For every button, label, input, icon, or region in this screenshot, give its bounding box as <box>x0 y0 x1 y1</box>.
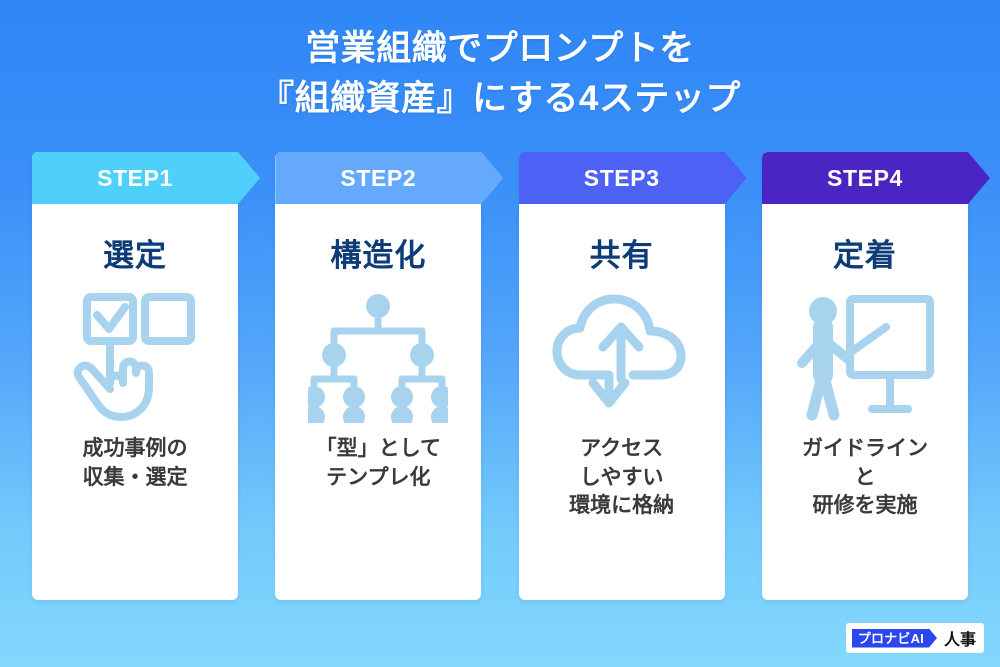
step-title-2: 構造化 <box>330 240 426 271</box>
step-card-1: STEP1 選定 成功事例の 収集・選定 <box>32 152 238 600</box>
step-body-2-line-2: テンプレ化 <box>280 464 476 493</box>
step-card-3: STEP3 共有 アクセス しやすい 環境に格納 <box>519 152 725 600</box>
logo-suffix-text: 人事 <box>944 626 976 650</box>
step-body-1-line-1: 成功事例の <box>37 435 233 464</box>
infographic-canvas: 営業組織でプロンプトを 『組織資産』にする4ステップ STEP1 選定 成功事例… <box>0 0 1000 667</box>
step-body-3-line-3: 環境に格納 <box>524 492 720 521</box>
step-title-4: 定着 <box>833 240 897 271</box>
step-body-2: 「型」として テンプレ化 <box>280 435 476 492</box>
cloud-sync-icon <box>547 289 697 425</box>
checkbox-hand-icon <box>60 289 210 425</box>
step-label-3: STEP3 <box>584 165 660 192</box>
step-body-1: 成功事例の 収集・選定 <box>37 435 233 492</box>
step-body-3-line-1: アクセス <box>524 435 720 464</box>
step-body-3-line-2: しやすい <box>524 464 720 493</box>
step-band-3: STEP3 <box>519 152 747 204</box>
org-chart-icon <box>303 289 453 425</box>
step-body-4-line-1: ガイドライン <box>767 435 963 464</box>
page-title: 営業組織でプロンプトを 『組織資産』にする4ステップ <box>0 24 1000 123</box>
step-body-3: アクセス しやすい 環境に格納 <box>524 435 720 521</box>
step-title-1: 選定 <box>103 240 167 271</box>
title-line-2: 『組織資産』にする4ステップ <box>0 74 1000 124</box>
brand-logo: プロナビAI 人事 <box>846 623 984 653</box>
presenter-whiteboard-icon <box>790 289 940 425</box>
step-card-2: STEP2 構造化 <box>275 152 481 600</box>
steps-row: STEP1 選定 成功事例の 収集・選定 STEP2 <box>32 152 968 600</box>
step-card-4: STEP4 定着 ガイドライン と <box>762 152 968 600</box>
step-band-1: STEP1 <box>32 152 260 204</box>
step-band-4: STEP4 <box>762 152 990 204</box>
step-band-2: STEP2 <box>275 152 503 204</box>
step-label-1: STEP1 <box>97 165 173 192</box>
step-body-4-line-2: と <box>767 464 963 493</box>
logo-tag-text: プロナビAI <box>852 629 937 648</box>
step-body-4-line-3: 研修を実施 <box>767 492 963 521</box>
step-body-2-line-1: 「型」として <box>280 435 476 464</box>
step-body-4: ガイドライン と 研修を実施 <box>767 435 963 521</box>
step-body-1-line-2: 収集・選定 <box>37 464 233 493</box>
step-title-3: 共有 <box>590 240 654 271</box>
title-line-1: 営業組織でプロンプトを <box>0 24 1000 74</box>
step-label-4: STEP4 <box>827 165 903 192</box>
step-label-2: STEP2 <box>340 165 416 192</box>
